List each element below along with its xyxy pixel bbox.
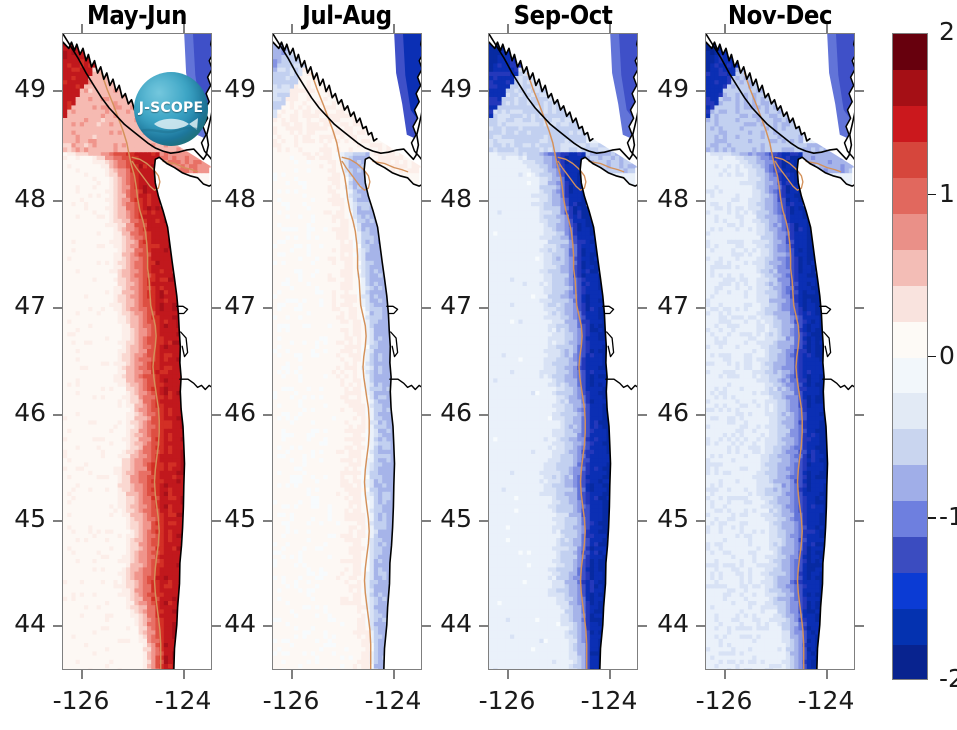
- ytick-left-0-2: [53, 307, 62, 309]
- ytick-left-1-0: [263, 90, 272, 92]
- xtick-top-3-0: [724, 24, 726, 33]
- ytick-label-0-4: 45: [0, 504, 46, 533]
- ytick-label-3-3: 46: [637, 398, 689, 427]
- xtick-label-0-1: -124: [133, 686, 233, 715]
- ytick-label-0-1: 48: [0, 184, 46, 213]
- colorbar-band-2: [893, 106, 927, 143]
- ytick-left-2-1: [479, 200, 488, 202]
- xtick-label-2-0: -126: [457, 686, 557, 715]
- xtick-label-3-1: -124: [776, 686, 876, 715]
- colorbar-band-7: [893, 286, 927, 323]
- ytick-left-1-4: [263, 520, 272, 522]
- panel-title-0: May-Jun: [45, 1, 230, 31]
- map-panel-3[interactable]: [705, 33, 855, 670]
- ytick-left-1-1: [263, 200, 272, 202]
- ytick-label-0-3: 46: [0, 398, 46, 427]
- ytick-label-0-2: 47: [0, 291, 46, 320]
- xtick-bottom-3-0: [724, 670, 726, 679]
- ytick-right-3-0: [855, 90, 864, 92]
- ytick-label-2-4: 45: [420, 504, 472, 533]
- ytick-label-3-1: 48: [637, 184, 689, 213]
- colorbar-band-3: [893, 142, 927, 179]
- colorbar-band-9: [893, 358, 927, 395]
- xtick-top-3-1: [826, 24, 828, 33]
- colorbar-band-15: [893, 573, 927, 610]
- colorbar-band-12: [893, 465, 927, 502]
- xtick-label-3-0: -126: [674, 686, 774, 715]
- ytick-label-2-5: 44: [420, 609, 472, 638]
- panel-title-3: Nov-Dec: [688, 1, 873, 31]
- map-field-2: [489, 34, 638, 670]
- ytick-label-1-5: 44: [204, 609, 256, 638]
- colorbar-band-13: [893, 501, 927, 538]
- colorbar-tick-3: [928, 517, 936, 519]
- map-panel-1[interactable]: [272, 33, 422, 670]
- colorbar-label-1: 1: [939, 179, 955, 208]
- colorbar-label-4: -2: [939, 664, 957, 693]
- j-scope-logo-label: J-SCOPE: [134, 100, 208, 116]
- ytick-left-2-5: [479, 625, 488, 627]
- xtick-label-2-1: -124: [559, 686, 659, 715]
- ytick-left-3-2: [696, 307, 705, 309]
- xtick-top-2-0: [507, 24, 509, 33]
- ytick-label-2-1: 48: [420, 184, 472, 213]
- ytick-left-3-3: [696, 414, 705, 416]
- ytick-label-0-5: 44: [0, 609, 46, 638]
- xtick-bottom-0-0: [81, 670, 83, 679]
- colorbar-tick-1: [928, 194, 936, 196]
- ytick-label-2-2: 47: [420, 291, 472, 320]
- colorbar-band-10: [893, 393, 927, 430]
- ytick-left-0-5: [53, 625, 62, 627]
- colorbar-band-8: [893, 322, 927, 359]
- ytick-left-0-3: [53, 414, 62, 416]
- xtick-top-1-1: [393, 24, 395, 33]
- ytick-left-1-2: [263, 307, 272, 309]
- map-field-1: [273, 34, 422, 670]
- ytick-left-1-3: [263, 414, 272, 416]
- ytick-right-3-1: [855, 200, 864, 202]
- colorbar-band-6: [893, 250, 927, 287]
- ytick-label-1-2: 47: [204, 291, 256, 320]
- ytick-label-1-0: 49: [204, 74, 256, 103]
- xtick-label-0-0: -126: [31, 686, 131, 715]
- ytick-label-1-3: 46: [204, 398, 256, 427]
- ytick-label-0-0: 49: [0, 74, 46, 103]
- j-scope-logo: J-SCOPE: [134, 72, 208, 146]
- ytick-left-3-4: [696, 520, 705, 522]
- ytick-right-3-3: [855, 414, 864, 416]
- ytick-label-1-4: 45: [204, 504, 256, 533]
- ytick-left-2-3: [479, 414, 488, 416]
- ytick-label-3-4: 45: [637, 504, 689, 533]
- xtick-bottom-2-0: [507, 670, 509, 679]
- xtick-bottom-1-1: [393, 670, 395, 679]
- colorbar-band-4: [893, 178, 927, 215]
- xtick-bottom-3-1: [826, 670, 828, 679]
- xtick-bottom-1-0: [291, 670, 293, 679]
- colorbar-band-17: [893, 645, 927, 680]
- colorbar-band-14: [893, 537, 927, 574]
- ytick-label-2-0: 49: [420, 74, 472, 103]
- ytick-left-2-4: [479, 520, 488, 522]
- colorbar-label-0: 2: [939, 17, 955, 46]
- ytick-left-3-0: [696, 90, 705, 92]
- ytick-label-3-2: 47: [637, 291, 689, 320]
- colorbar-band-0: [893, 34, 927, 71]
- colorbar-band-16: [893, 609, 927, 646]
- map-panel-2[interactable]: [488, 33, 638, 670]
- xtick-label-1-1: -124: [343, 686, 443, 715]
- colorbar-label-3: -1: [939, 502, 957, 531]
- ytick-right-3-4: [855, 520, 864, 522]
- ytick-left-2-2: [479, 307, 488, 309]
- xtick-bottom-2-1: [609, 670, 611, 679]
- colorbar-tick-2: [928, 356, 936, 358]
- xtick-bottom-0-1: [183, 670, 185, 679]
- panel-title-2: Sep-Oct: [471, 1, 656, 31]
- colorbar-band-11: [893, 429, 927, 466]
- colorbar[interactable]: [892, 33, 928, 680]
- xtick-top-1-0: [291, 24, 293, 33]
- xtick-top-0-0: [81, 24, 83, 33]
- panel-title-1: Jul-Aug: [255, 1, 440, 31]
- ytick-left-0-0: [53, 90, 62, 92]
- figure-canvas: May-Jun494847464544-126-124Jul-Aug494847…: [0, 0, 957, 730]
- ytick-left-0-1: [53, 200, 62, 202]
- colorbar-label-2: 0: [939, 341, 955, 370]
- xtick-top-2-1: [609, 24, 611, 33]
- ytick-label-3-5: 44: [637, 609, 689, 638]
- ytick-left-3-5: [696, 625, 705, 627]
- ytick-left-0-4: [53, 520, 62, 522]
- colorbar-band-1: [893, 70, 927, 107]
- ytick-left-1-5: [263, 625, 272, 627]
- ytick-label-2-3: 46: [420, 398, 472, 427]
- ytick-label-1-1: 48: [204, 184, 256, 213]
- map-field-3: [706, 34, 855, 670]
- colorbar-band-5: [893, 214, 927, 251]
- ytick-right-3-5: [855, 625, 864, 627]
- ytick-left-3-1: [696, 200, 705, 202]
- ytick-left-2-0: [479, 90, 488, 92]
- xtick-label-1-0: -126: [241, 686, 341, 715]
- ytick-label-3-0: 49: [637, 74, 689, 103]
- xtick-top-0-1: [183, 24, 185, 33]
- ytick-right-3-2: [855, 307, 864, 309]
